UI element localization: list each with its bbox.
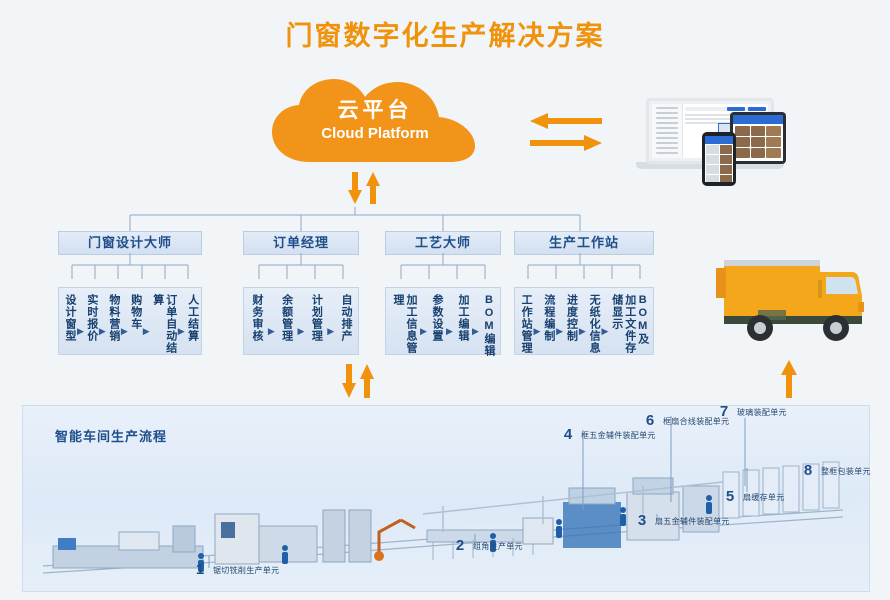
phone-screen (705, 136, 733, 182)
arrow-down-icon-modules (342, 364, 356, 398)
chevron-right-icon: ▶ (298, 326, 305, 337)
unit-number: 1 (193, 563, 207, 577)
tablet-device (730, 112, 786, 164)
group-connector-0 (58, 253, 202, 287)
tablet-screen (733, 115, 783, 161)
unit-1-machine (53, 526, 203, 568)
module-item[interactable]: 参数设置 (430, 294, 443, 342)
phone-device (702, 132, 736, 186)
module-item[interactable]: 无纸化信息 (587, 294, 600, 354)
module-group-title-2: 工艺大师 (385, 231, 501, 255)
unit-callout-3: 3 扇五金辅件装配单元 (635, 514, 730, 528)
unit-number: 6 (643, 414, 657, 428)
module-items-0: 设计窗型 ▶ 实时报价 ▶ 物料营销 ▶ 购物车 ▶ 订单自动结算 ▶ 人工结算 (58, 287, 202, 355)
unit-number: 4 (561, 428, 575, 442)
cloud-platform-node: 云平台 Cloud Platform (266, 78, 484, 170)
module-group-1[interactable]: 订单经理 财务审核 ▶ 余额管理 ▶ 计划管理 ▶ 自动排产 (243, 231, 359, 355)
module-item[interactable]: 余额管理 (280, 294, 293, 342)
chevron-right-icon: ▶ (143, 326, 150, 337)
module-item[interactable]: 订单自动结算 (151, 294, 177, 358)
group-connector-2 (385, 253, 501, 287)
unit-label: 扇五金辅件装配单元 (655, 516, 730, 527)
module-group-2[interactable]: 工艺大师 加工信息管理 ▶ 参数设置 ▶ 加工编辑 ▶ BOM编辑 (385, 231, 501, 355)
page-title: 门窗数字化生产解决方案 (0, 14, 890, 53)
devices-group (630, 88, 790, 172)
unit-number: 3 (635, 514, 649, 528)
arrow-left-icon (530, 113, 602, 129)
module-items-3: 工作站管理 ▶ 流程编制 ▶ 进度控制 ▶ 无纸化信息 ▶ BOM及加工文件存储… (514, 287, 654, 355)
module-group-0[interactable]: 门窗设计大师 设计窗型 ▶ 实时报价 ▶ 物料营销 ▶ 购物车 ▶ 订单自动结算… (58, 231, 202, 355)
unit-number: 2 (453, 539, 467, 553)
chevron-right-icon: ▶ (99, 326, 106, 337)
chevron-right-icon: ▶ (121, 326, 128, 337)
module-item[interactable]: BOM编辑 (482, 294, 495, 357)
cloud-title-cn: 云平台 (266, 98, 484, 124)
chevron-right-icon: ▶ (420, 326, 427, 337)
chevron-right-icon: ▶ (77, 326, 84, 337)
chevron-right-icon: ▶ (472, 326, 479, 337)
module-item[interactable]: 财务审核 (250, 294, 263, 342)
module-group-title-0: 门窗设计大师 (58, 231, 202, 255)
unit-label: 框五金辅件装配单元 (581, 430, 656, 441)
chevron-right-icon: ▶ (327, 326, 334, 337)
module-item[interactable]: 自动排产 (339, 294, 352, 342)
module-item[interactable]: 工作站管理 (519, 294, 532, 354)
module-item[interactable]: 物料营销 (107, 294, 120, 342)
module-item[interactable]: 人工结算 (186, 294, 199, 342)
unit-number: 8 (801, 464, 815, 478)
chevron-right-icon: ▶ (601, 326, 608, 337)
unit-label: 扇缓存单元 (743, 492, 785, 503)
chevron-right-icon: ▶ (178, 326, 185, 337)
chevron-right-icon: ▶ (446, 326, 453, 337)
laptop-sidebar (652, 104, 683, 158)
arrow-up-icon-truck (781, 360, 797, 398)
module-item[interactable]: BOM及加工文件存储显示 (610, 294, 649, 354)
unit-label: 组角生产单元 (473, 541, 523, 552)
unit-number: 7 (717, 405, 731, 419)
chevron-right-icon: ▶ (556, 326, 563, 337)
unit-callout-8: 8 整框包装单元 (801, 464, 871, 478)
module-group-title-1: 订单经理 (243, 231, 359, 255)
chevron-right-icon: ▶ (268, 326, 275, 337)
module-item[interactable]: 进度控制 (564, 294, 577, 342)
group-connector-1 (243, 253, 359, 287)
group-connector-3 (514, 253, 654, 287)
solution-diagram: 门窗数字化生产解决方案 云平台 Cloud Platform (0, 0, 890, 600)
module-item[interactable]: 流程编制 (542, 294, 555, 342)
delivery-truck (712, 258, 870, 354)
module-items-2: 加工信息管理 ▶ 参数设置 ▶ 加工编辑 ▶ BOM编辑 (385, 287, 501, 355)
unit-callout-4: 4 框五金辅件装配单元 (561, 428, 656, 442)
chevron-right-icon: ▶ (579, 326, 586, 337)
arrow-up-icon-modules (360, 364, 374, 398)
unit-callout-5: 5 扇缓存单元 (723, 490, 785, 504)
module-item[interactable]: 设计窗型 (63, 294, 76, 342)
module-group-3[interactable]: 生产工作站 工作站管理 ▶ 流程编制 ▶ 进度控制 ▶ 无纸化信息 ▶ BOM及… (514, 231, 654, 355)
unit-callout-7: 7 玻璃装配单元 (717, 405, 787, 419)
chevron-right-icon: ▶ (534, 326, 541, 337)
module-item[interactable]: 计划管理 (309, 294, 322, 342)
module-item[interactable]: 购物车 (129, 294, 142, 330)
factory-floor-panel: 智能车间生产流程 (22, 405, 870, 592)
unit-callout-1: 1 锯切铣削生产单元 (193, 563, 279, 577)
module-item[interactable]: 实时报价 (85, 294, 98, 342)
module-item[interactable]: 加工编辑 (456, 294, 469, 342)
unit-number: 5 (723, 490, 737, 504)
module-item[interactable]: 加工信息管理 (391, 294, 417, 358)
cloud-text-group: 云平台 Cloud Platform (266, 98, 484, 144)
arrow-right-icon (530, 135, 602, 151)
unit-label: 锯切铣削生产单元 (213, 565, 279, 576)
module-items-1: 财务审核 ▶ 余额管理 ▶ 计划管理 ▶ 自动排产 (243, 287, 359, 355)
cloud-title-en: Cloud Platform (266, 124, 484, 144)
unit-label: 整框包装单元 (821, 466, 871, 477)
unit-callout-2: 2 组角生产单元 (453, 539, 523, 553)
unit-label: 玻璃装配单元 (737, 407, 787, 418)
module-group-title-3: 生产工作站 (514, 231, 654, 255)
module-connector-tree (0, 185, 890, 233)
